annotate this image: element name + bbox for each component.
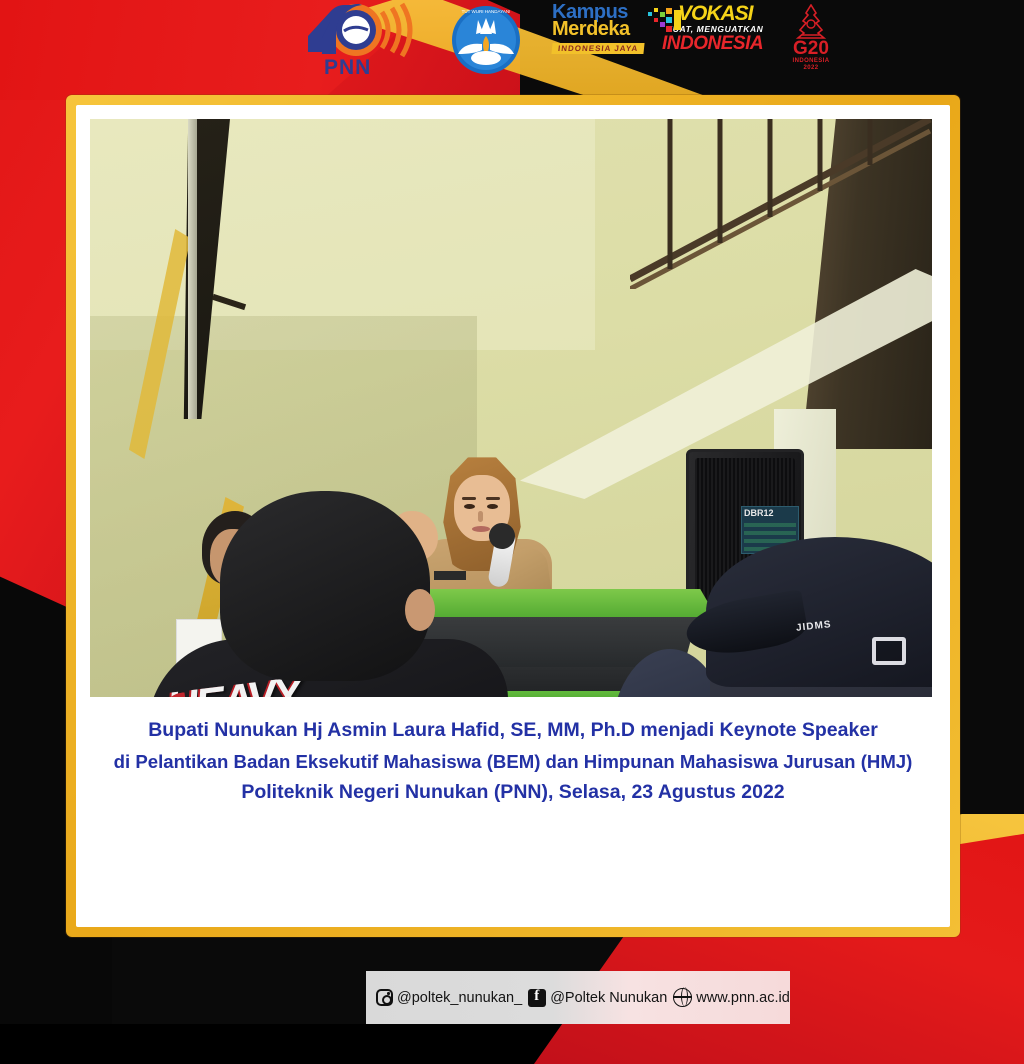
facebook-handle[interactable]: @Poltek Nunukan [550, 990, 667, 1006]
facebook-entry[interactable]: @Poltek Nunukan [528, 989, 667, 1007]
photo-presenter-nose [478, 511, 483, 522]
content-card-frame: DBR12 [66, 95, 960, 937]
vokasi-logo: VOKASI KUAT, MENGUATKAN INDONESIA [652, 4, 774, 62]
website-url[interactable]: www.pnn.ac.id [696, 990, 790, 1006]
pnn-logo: PNN [300, 2, 430, 86]
photo-presenter-eye-left [464, 504, 475, 509]
photo-presenter-brow-left [462, 497, 476, 500]
facebook-icon[interactable] [528, 989, 546, 1007]
g20-title: G20 [778, 40, 844, 58]
globe-icon[interactable] [673, 988, 692, 1007]
photo-foreground-left-head [220, 491, 430, 681]
vokasi-line1: VOKASI [678, 4, 774, 24]
g20-sub1: INDONESIA [778, 58, 844, 65]
caption-line-3: Politeknik Negeri Nunukan (PNN), Selasa,… [90, 777, 936, 808]
photo-presenter-eye-right [487, 504, 498, 509]
photo-foreground-left-ear [405, 589, 435, 631]
pnn-mark [300, 2, 420, 60]
content-card: DBR12 [76, 105, 950, 927]
vokasi-line3: INDONESIA [662, 34, 774, 53]
pnn-logo-svg [300, 2, 420, 60]
g20-gunungan-icon [788, 4, 834, 40]
g20-logo: G20 INDONESIA 2022 [778, 4, 844, 66]
social-footer-bar: @poltek_nunukan_ @Poltek Nunukan www.pnn… [366, 971, 790, 1024]
instagram-entry[interactable]: @poltek_nunukan_ [376, 989, 522, 1006]
event-photo: DBR12 [90, 119, 932, 697]
logo-bar: PNN TUT WURI HANDAYANI Kampus Merdeka IN… [0, 0, 1024, 80]
photo-stair-railing [630, 119, 932, 289]
photo-presenter-brow-right [486, 497, 500, 500]
caption-line-2: di Pelantikan Badan Eksekutif Mahasiswa … [90, 746, 936, 777]
instagram-handle[interactable]: @poltek_nunukan_ [397, 990, 522, 1006]
g20-sub2: 2022 [778, 65, 844, 72]
pnn-logo-label: PNN [324, 56, 371, 80]
kampus-merdeka-banner: INDONESIA JAYA [551, 43, 644, 54]
instagram-icon[interactable] [376, 989, 393, 1006]
photo-presenter-nametag [434, 571, 466, 580]
photo-pa-speaker-model: DBR12 [744, 508, 774, 518]
photo-flagpole [188, 119, 197, 419]
vokasi-pixel-burst-icon [646, 6, 686, 36]
caption-line-1: Bupati Nunukan Hj Asmin Laura Hafid, SE,… [90, 715, 936, 746]
website-entry[interactable]: www.pnn.ac.id [673, 988, 790, 1007]
photo-presenter-mouth [472, 526, 490, 532]
svg-text:TUT WURI HANDAYANI: TUT WURI HANDAYANI [462, 9, 511, 14]
caption-block: Bupati Nunukan Hj Asmin Laura Hafid, SE,… [90, 715, 936, 808]
photo-baseball-cap-buckle [872, 637, 906, 665]
tut-wuri-handayani-logo: TUT WURI HANDAYANI [450, 4, 522, 76]
tut-wuri-handayani-svg: TUT WURI HANDAYANI [450, 4, 522, 76]
